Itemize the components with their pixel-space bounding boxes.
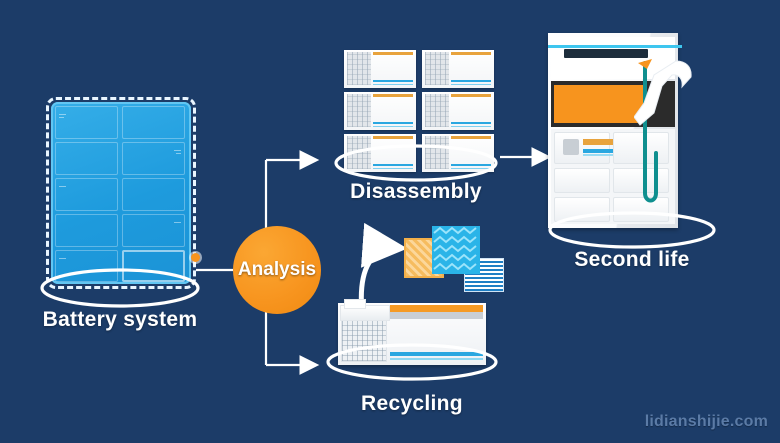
platform-disassembly [336, 146, 496, 180]
platform-battery [42, 270, 198, 306]
platform-secondlife [550, 213, 714, 247]
watermark-text: lidianshijie.com [645, 413, 768, 431]
platform-recycling [328, 345, 496, 379]
diagram-canvas: Battery system Analysis Disassembly [0, 0, 780, 443]
platform-ellipse-layer [0, 0, 780, 443]
